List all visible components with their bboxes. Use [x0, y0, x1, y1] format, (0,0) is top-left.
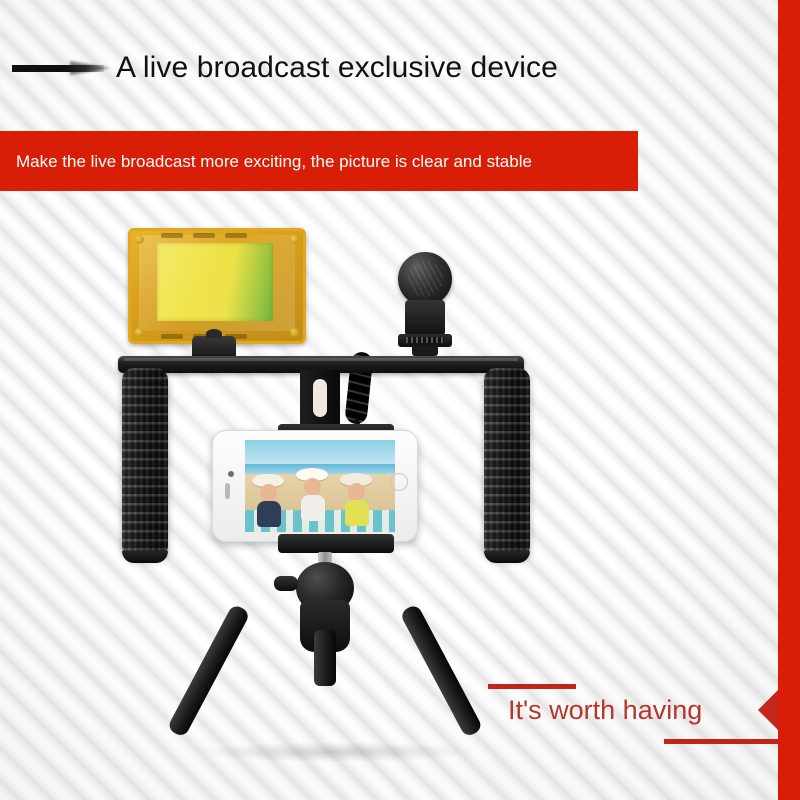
- headline-row: A live broadcast exclusive device: [0, 44, 740, 92]
- led-vent: [193, 233, 215, 238]
- smartphone: [212, 430, 418, 542]
- phone-speaker: [225, 483, 230, 499]
- promo-poster: A live broadcast exclusive device Make t…: [0, 0, 800, 800]
- led-screw-icon: [135, 328, 144, 337]
- cold-shoe-bracket: [300, 370, 340, 432]
- sub-banner-text: Make the live broadcast more exciting, t…: [16, 153, 532, 170]
- product-shadow: [196, 742, 476, 762]
- person-body: [257, 501, 281, 527]
- led-vent: [161, 334, 183, 339]
- bracket-slot: [313, 379, 327, 417]
- phone-screen: [245, 440, 395, 532]
- led-screw-icon: [290, 328, 299, 337]
- person-face: [348, 483, 365, 501]
- tripod-lock-knob: [274, 576, 298, 591]
- tripod-leg-center: [314, 630, 336, 686]
- phone-home-button: [390, 473, 408, 491]
- right-edge-red-strip: [778, 0, 800, 800]
- tripod-leg-right: [399, 603, 483, 738]
- led-glass-cover: [139, 235, 295, 331]
- page-title: A live broadcast exclusive device: [116, 53, 558, 83]
- led-vent: [161, 233, 183, 238]
- person-body: [301, 495, 325, 521]
- grip-end-cap: [122, 551, 168, 563]
- product-illustration: [0, 0, 800, 800]
- tagline-rule-top: [488, 684, 576, 689]
- led-video-light: [128, 228, 306, 344]
- grip-end-cap: [484, 551, 530, 563]
- tagline-rule-bottom: [664, 739, 780, 744]
- microphone-foot: [412, 345, 438, 356]
- right-foam-grip: [484, 368, 530, 558]
- phone-clamp-bottom-jaw: [278, 534, 394, 553]
- chevron-left-icon: [758, 690, 778, 730]
- tapered-dash-icon: [12, 65, 104, 72]
- tripod-leg-left: [167, 603, 251, 738]
- microphone-body: [405, 300, 445, 336]
- microphone-windscreen: [398, 252, 452, 306]
- left-foam-grip: [122, 368, 168, 558]
- person-face: [304, 478, 321, 496]
- sub-banner: Make the live broadcast more exciting, t…: [0, 131, 638, 191]
- rig-bar-highlight: [124, 358, 518, 361]
- led-screw-icon: [135, 235, 144, 244]
- tagline-text: It's worth having: [508, 697, 702, 724]
- person-body: [345, 500, 369, 526]
- led-vent: [225, 233, 247, 238]
- led-screw-icon: [290, 235, 299, 244]
- person-face: [260, 484, 277, 502]
- phone-camera-icon: [228, 471, 234, 477]
